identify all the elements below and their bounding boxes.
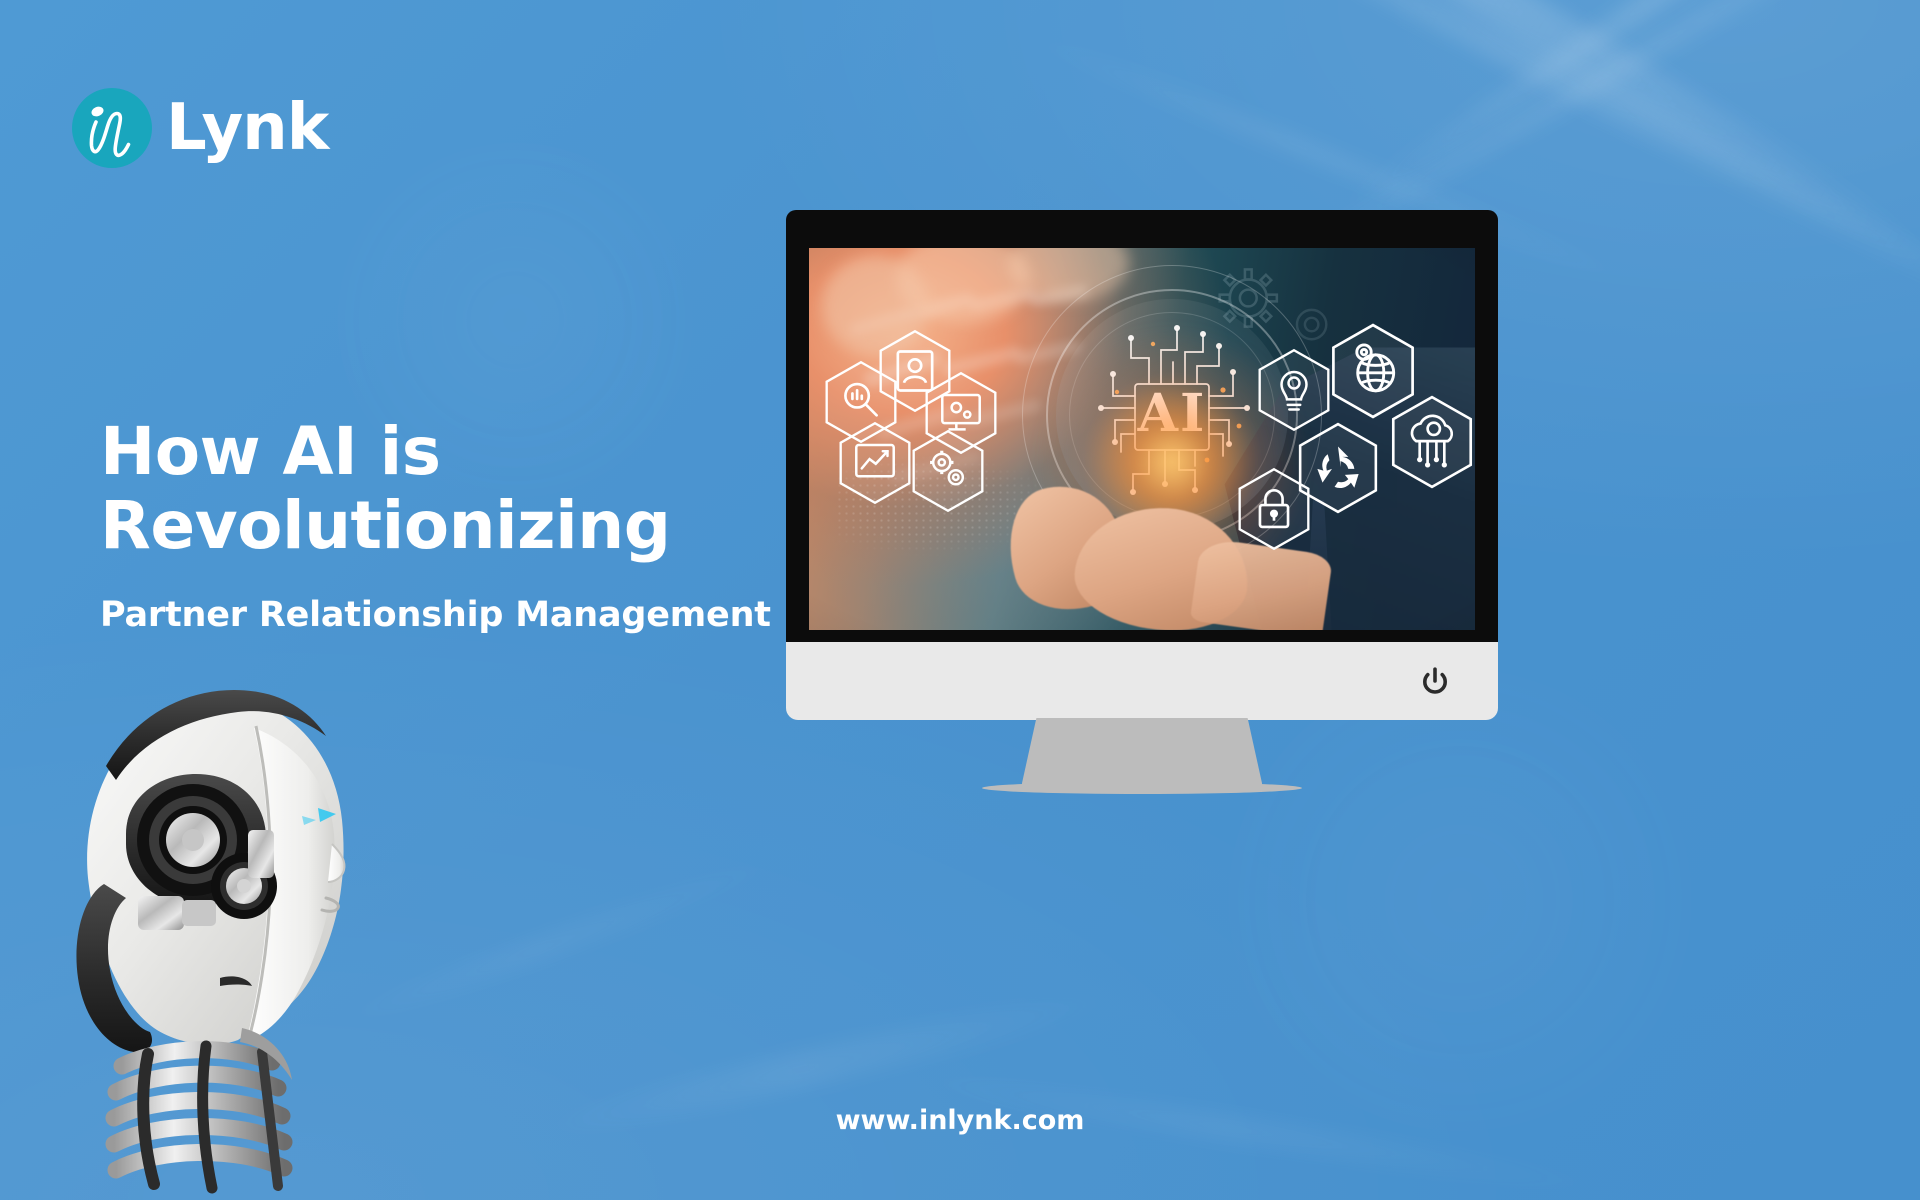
monitor-stand-foot <box>982 782 1302 794</box>
monitor-bezel: AI <box>786 210 1498 642</box>
cloud-circuit-icon <box>1388 393 1475 491</box>
robot-lower-tab <box>182 900 216 926</box>
robot-lower-tab <box>138 896 184 930</box>
page-title: How AI is Revolutionizing <box>100 415 860 563</box>
logo-in-script-icon <box>72 88 152 168</box>
hero-copy: How AI is Revolutionizing Partner Relati… <box>100 415 860 635</box>
logo-wordmark: Lynk <box>166 96 328 160</box>
hex-gears <box>909 428 987 514</box>
chart-report-icon <box>836 420 914 506</box>
hex-cloud-circuit <box>1388 393 1475 491</box>
robot-head-icon <box>30 648 370 1200</box>
page-subtitle: Partner Relationship Management <box>100 595 860 635</box>
headline-line-2: Revolutionizing <box>100 489 860 563</box>
desktop-monitor: AI <box>786 210 1498 715</box>
screen-artwork: AI <box>809 248 1475 630</box>
hex-chart-report <box>836 420 914 506</box>
hex-lock <box>1235 466 1313 552</box>
monitor-stand-neck <box>1022 718 1262 792</box>
logo-mark-circle <box>72 88 152 168</box>
monitor-screen: AI <box>809 248 1475 630</box>
monitor-chin <box>786 642 1498 720</box>
robot-side-tab <box>248 830 274 878</box>
lock-icon <box>1235 466 1313 552</box>
headline-line-1: How AI is <box>100 413 441 490</box>
robot-ear-hub <box>182 829 204 851</box>
gears-icon <box>909 428 987 514</box>
power-icon[interactable] <box>1418 664 1452 698</box>
brand-logo[interactable]: Lynk <box>72 88 328 168</box>
robot-head-illustration <box>30 648 370 1200</box>
robot-dial-hub <box>237 879 251 893</box>
